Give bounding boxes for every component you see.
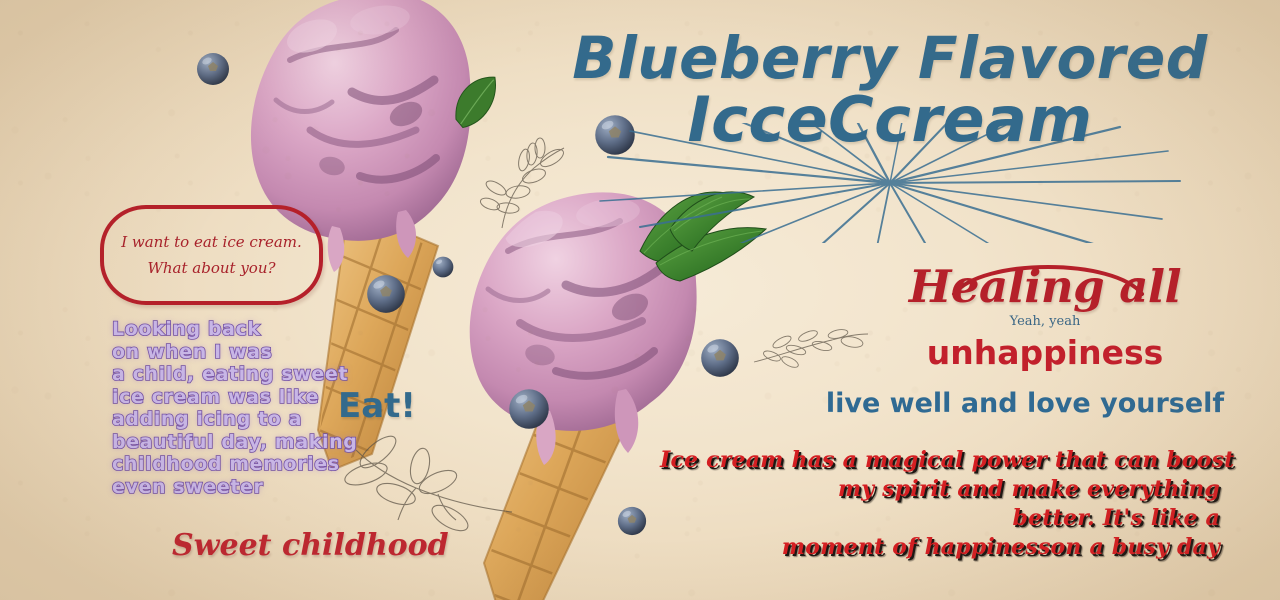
memory-line-1: Looking back bbox=[112, 318, 372, 341]
memory-line-8: even sweeter bbox=[112, 476, 372, 499]
memory-line-7: childhood memories bbox=[112, 453, 372, 476]
magic-quote-line-2: my spirit and make everything bbox=[660, 475, 1220, 504]
healing-block: Healing all Yeah, yeah unhappiness bbox=[830, 262, 1260, 373]
magic-quote-paragraph: Ice cream has a magical power that can b… bbox=[660, 446, 1220, 562]
blueberry-icon-6 bbox=[617, 506, 647, 536]
healing-tagline: live well and love yourself bbox=[795, 388, 1255, 419]
poster-canvas: Blueberry Flavored IcceCcream bbox=[0, 0, 1280, 600]
blueberry-icon-7 bbox=[432, 256, 454, 278]
magic-quote-line-4: moment of happinesson a busy day bbox=[660, 533, 1220, 562]
memory-paragraph: Looking back on when I was a child, eati… bbox=[112, 318, 372, 498]
healing-headline: Healing all bbox=[830, 262, 1260, 312]
blueberry-icon-1 bbox=[196, 52, 230, 86]
memory-line-4: ice cream was like bbox=[112, 386, 372, 409]
memory-line-6: beautiful day, making bbox=[112, 431, 372, 454]
blueberry-icon-3 bbox=[366, 274, 406, 314]
sweet-childhood-callout: Sweet childhood bbox=[172, 528, 449, 563]
memory-line-3: a child, eating sweet bbox=[112, 363, 372, 386]
blueberry-icon-4 bbox=[508, 388, 550, 430]
speech-bubble-line-1: I want to eat ice cream. bbox=[121, 229, 302, 255]
page-title-line-2: IcceCcream bbox=[560, 88, 1220, 152]
eat-callout: Eat! bbox=[338, 386, 416, 426]
blueberry-icon-5 bbox=[700, 338, 740, 378]
healing-subnote: Yeah, yeah bbox=[830, 313, 1260, 331]
page-title-line-1: Blueberry Flavored bbox=[560, 28, 1220, 88]
healing-emphasis: unhappiness bbox=[830, 333, 1260, 373]
magic-quote-line-1: Ice cream has a magical power that can b… bbox=[660, 446, 1220, 475]
title-block: Blueberry Flavored IcceCcream bbox=[560, 28, 1220, 218]
speech-bubble: I want to eat ice cream. What about you? bbox=[100, 205, 323, 305]
memory-line-2: on when I was bbox=[112, 341, 372, 364]
speech-bubble-line-2: What about you? bbox=[147, 255, 275, 281]
magic-quote-line-3: better. It's like a bbox=[660, 504, 1220, 533]
speech-bubble-text: I want to eat ice cream. What about you? bbox=[104, 209, 319, 301]
memory-line-5: adding icing to a bbox=[112, 408, 372, 431]
